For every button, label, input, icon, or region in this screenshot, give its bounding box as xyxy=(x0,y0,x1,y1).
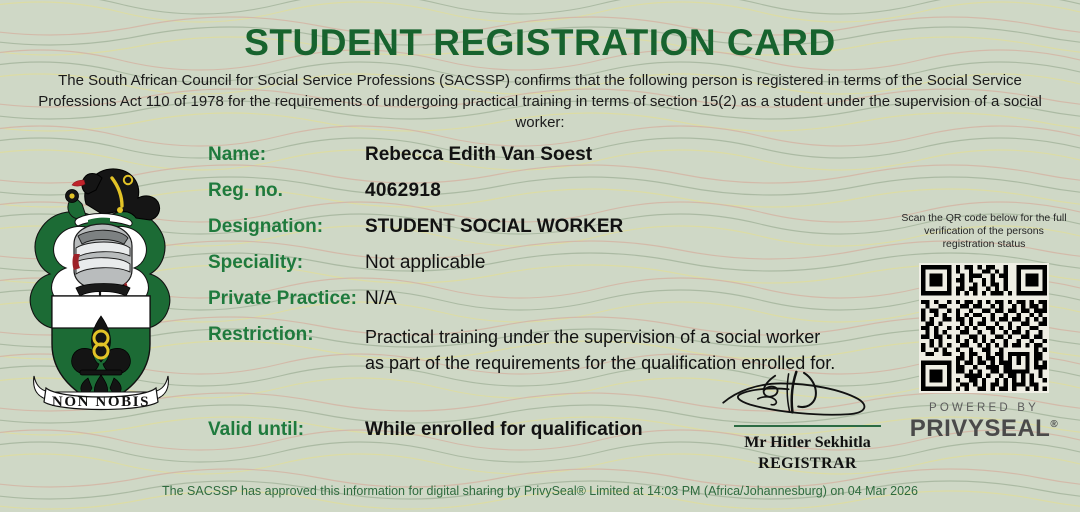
verification-panel: Scan the QR code below for the full veri… xyxy=(898,212,1070,443)
page-title: STUDENT REGISTRATION CARD xyxy=(0,22,1080,64)
field-row-reg-no: Reg. no. 4062918 xyxy=(208,180,908,216)
field-value-restriction: Practical training under the supervision… xyxy=(365,324,835,376)
intro-paragraph: The South African Council for Social Ser… xyxy=(30,70,1050,133)
qr-caption: Scan the QR code below for the full veri… xyxy=(898,212,1070,251)
registrar-name: Mr Hitler Sekhitla xyxy=(700,434,915,452)
field-row-designation: Designation: STUDENT SOCIAL WORKER xyxy=(208,216,908,252)
registrar-role: REGISTRAR xyxy=(700,455,915,473)
qr-code-verification[interactable] xyxy=(919,263,1049,393)
handwritten-signature-icon xyxy=(704,370,911,420)
signature-line xyxy=(734,425,881,427)
privyseal-brand-text: PRIVYSEAL xyxy=(910,415,1051,442)
field-value-private-practice: N/A xyxy=(365,288,397,310)
field-label-restriction: Restriction: xyxy=(208,324,314,346)
field-label-name: Name: xyxy=(208,144,266,166)
signature-block: Mr Hitler Sekhitla REGISTRAR xyxy=(700,370,915,473)
emblem-motto: NON NOBIS xyxy=(52,394,150,410)
field-label-designation: Designation: xyxy=(208,216,323,238)
field-value-designation: STUDENT SOCIAL WORKER xyxy=(365,216,623,238)
registered-mark-icon: ® xyxy=(1050,419,1058,430)
field-label-speciality: Speciality: xyxy=(208,252,303,274)
field-value-speciality: Not applicable xyxy=(365,252,485,274)
field-label-reg-no: Reg. no. xyxy=(208,180,283,202)
student-registration-card: STUDENT REGISTRATION CARD The South Afri… xyxy=(0,0,1080,512)
field-value-name: Rebecca Edith Van Soest xyxy=(365,144,592,166)
field-row-speciality: Speciality: Not applicable xyxy=(208,252,908,288)
field-label-valid-until: Valid until: xyxy=(208,419,304,441)
field-value-valid-until: While enrolled for qualification xyxy=(365,419,643,441)
powered-by-label: POWERED BY xyxy=(898,402,1070,414)
coat-of-arms-icon: NON NOBIS xyxy=(16,148,186,413)
privyseal-brand: PRIVYSEAL® xyxy=(898,415,1070,443)
field-row-private-practice: Private Practice: N/A xyxy=(208,288,908,324)
field-row-name: Name: Rebecca Edith Van Soest xyxy=(208,144,908,180)
field-value-reg-no: 4062918 xyxy=(365,180,441,202)
field-label-private-practice: Private Practice: xyxy=(208,288,357,310)
approval-footer: The SACSSP has approved this information… xyxy=(0,484,1080,498)
